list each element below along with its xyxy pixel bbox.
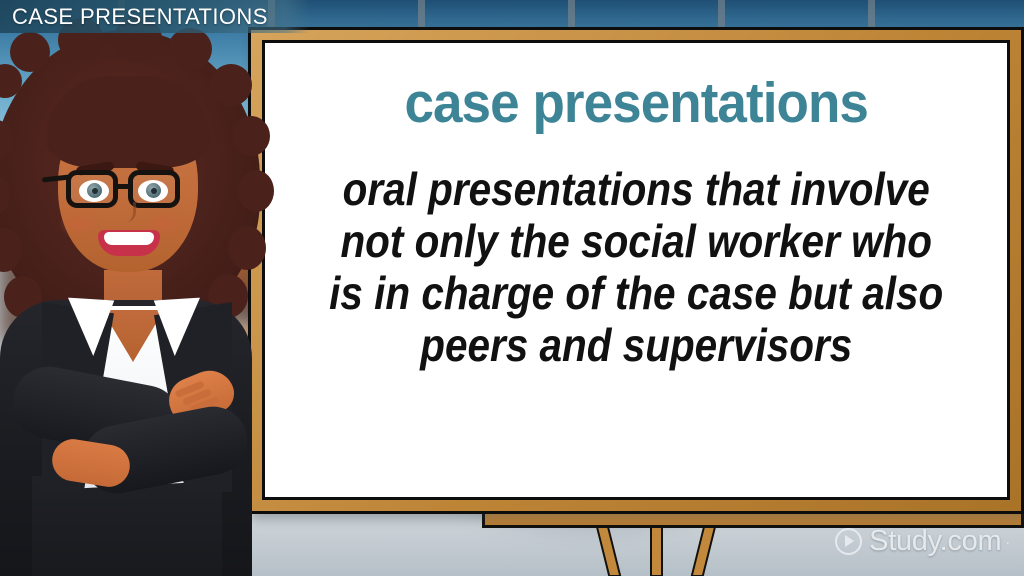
slide-title: CASE PRESENTATIONS — [0, 4, 268, 30]
hair-curl — [228, 226, 266, 270]
teeth — [104, 232, 154, 245]
easel-leg — [691, 525, 717, 576]
hair-curl — [232, 116, 270, 156]
definition-line: peers and supervisors — [301, 320, 972, 372]
slide-title-bar: CASE PRESENTATIONS — [0, 0, 310, 33]
easel-legs — [598, 525, 718, 576]
hair-curl — [10, 32, 50, 72]
mouth — [98, 230, 160, 256]
whiteboard-definition: oral presentations that involve not only… — [301, 164, 972, 372]
whiteboard-surface: case presentations oral presentations th… — [262, 40, 1010, 500]
eyeglasses-bridge — [116, 184, 131, 189]
easel-leg — [650, 525, 663, 576]
easel-leg — [596, 525, 622, 576]
whiteboard-heading: case presentations — [404, 75, 868, 132]
definition-line: is in charge of the case but also — [301, 268, 972, 320]
trademark-mark: · — [1005, 534, 1010, 550]
brand-name: Study.com — [869, 525, 1001, 558]
definition-line: oral presentations that involve — [301, 164, 972, 216]
hair-curl — [168, 28, 212, 70]
hair-curl — [210, 64, 252, 106]
blush — [64, 216, 94, 232]
study-watermark: Study.com · — [835, 525, 1010, 558]
play-circle-icon — [835, 528, 862, 555]
hair-curl — [238, 170, 274, 212]
slide-canvas: case presentations oral presentations th… — [0, 0, 1024, 576]
hair-fringe — [46, 76, 210, 168]
definition-line: not only the social worker who — [301, 216, 972, 268]
presenter-character — [0, 24, 286, 576]
whiteboard-frame: case presentations oral presentations th… — [248, 27, 1024, 514]
eyeglasses-lens-left — [66, 170, 118, 208]
